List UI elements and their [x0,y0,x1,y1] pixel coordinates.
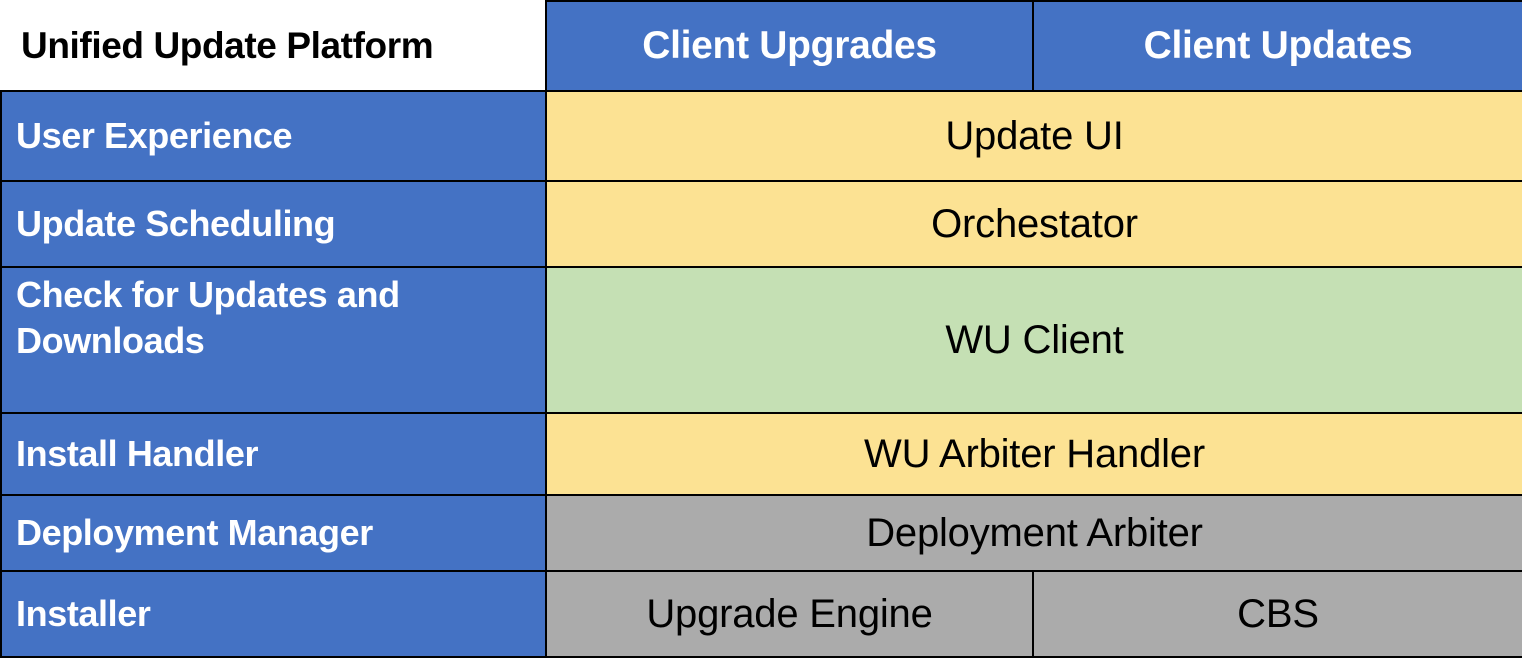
table-row: Update Scheduling Orchestator [1,181,1522,267]
stage-label-deployment-manager: Deployment Manager [1,495,546,571]
column-header-client-updates: Client Updates [1033,1,1522,91]
component-orchestator: Orchestator [546,181,1522,267]
table-row: User Experience Update UI [1,91,1522,181]
stage-label-check-for-updates-and-downloads: Check for Updates and Downloads [1,267,546,413]
table-row: Installer Upgrade Engine CBS [1,571,1522,657]
stage-label-install-handler: Install Handler [1,413,546,495]
stage-label-update-scheduling: Update Scheduling [1,181,546,267]
column-header-client-upgrades: Client Upgrades [546,1,1033,91]
stage-label-installer: Installer [1,571,546,657]
stage-label-user-experience: User Experience [1,91,546,181]
component-deployment-arbiter: Deployment Arbiter [546,495,1522,571]
table-row: Deployment Manager Deployment Arbiter [1,495,1522,571]
component-update-ui: Update UI [546,91,1522,181]
component-cbs: CBS [1033,571,1522,657]
page-title: Unified Update Platform [1,1,546,91]
unified-update-platform-table: Unified Update Platform Client Upgrades … [0,0,1522,658]
component-wu-arbiter-handler: WU Arbiter Handler [546,413,1522,495]
table-row: Check for Updates and Downloads WU Clien… [1,267,1522,413]
component-wu-client: WU Client [546,267,1522,413]
table-row: Install Handler WU Arbiter Handler [1,413,1522,495]
table-header-row: Unified Update Platform Client Upgrades … [1,1,1522,91]
component-upgrade-engine: Upgrade Engine [546,571,1033,657]
